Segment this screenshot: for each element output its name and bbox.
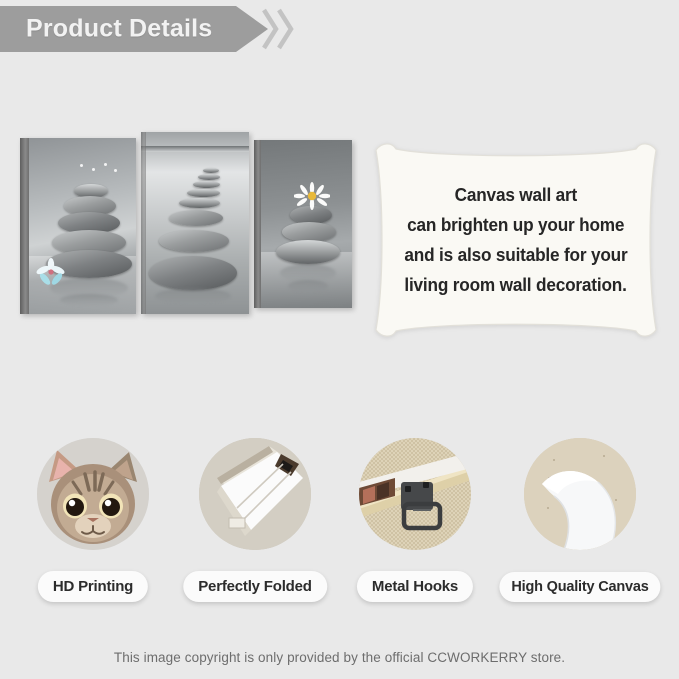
canvas-panel-2[interactable] (141, 132, 249, 314)
canvas-material-roll-photo (524, 438, 636, 550)
white-daisy-icon (294, 182, 330, 212)
blue-flower-icon (36, 258, 66, 288)
feature-label-high-quality-canvas: High Quality Canvas (499, 572, 660, 602)
feature-item-hd-printing[interactable]: HD Printing (18, 438, 168, 608)
feature-highlights: HD Printing Perfectly Folded (0, 438, 679, 608)
canvas-panel-1[interactable] (20, 138, 136, 314)
canvas-panel-1-art (20, 138, 136, 314)
canvas-panel-2-art (141, 132, 249, 314)
plaque-line-1: Canvas wall art (455, 184, 577, 206)
metal-hook-hardware-photo (359, 438, 471, 550)
page-header-banner: Product Details (0, 6, 320, 52)
canvas-corner-fold-photo (199, 438, 311, 550)
feature-item-metal-hooks[interactable]: Metal Hooks (340, 438, 490, 608)
feature-label-hd-printing: HD Printing (38, 571, 148, 602)
plaque-line-3: and is also suitable for your (404, 244, 627, 266)
canvas-panel-3[interactable] (254, 140, 352, 308)
canvas-triptych (14, 126, 354, 326)
copyright-notice: This image copyright is only provided by… (0, 650, 679, 665)
double-chevron-right-icon (262, 6, 298, 52)
marketing-callout-plaque: Canvas wall art can brighten up your hom… (366, 136, 666, 344)
plaque-line-2: can brighten up your home (407, 214, 624, 236)
plaque-line-4: living room wall decoration. (405, 274, 627, 296)
plaque-text-block: Canvas wall art can brighten up your hom… (366, 136, 666, 344)
canvas-panel-3-art (254, 140, 352, 308)
cat-portrait-photo (37, 438, 149, 550)
feature-item-perfectly-folded[interactable]: Perfectly Folded (180, 438, 330, 608)
feature-label-perfectly-folded: Perfectly Folded (183, 571, 327, 602)
feature-label-metal-hooks: Metal Hooks (357, 571, 473, 602)
page-title: Product Details (26, 15, 212, 44)
feature-item-high-quality-canvas[interactable]: High Quality Canvas (505, 438, 655, 608)
